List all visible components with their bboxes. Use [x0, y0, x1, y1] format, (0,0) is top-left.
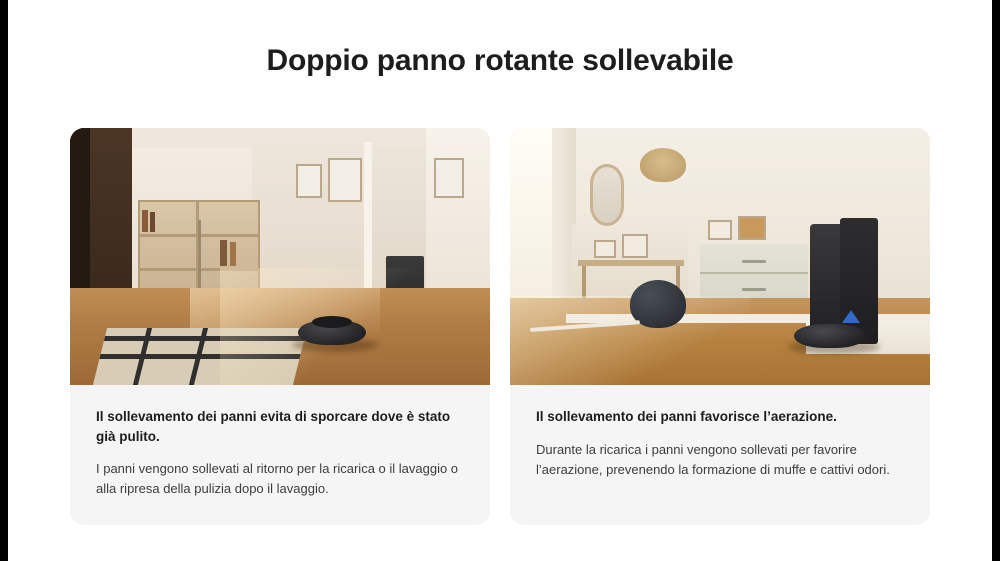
feature-body-2: Durante la ricarica i panni vengono soll…: [536, 440, 904, 480]
scene1-book-d: [230, 242, 236, 266]
scene1-picture-frame-c: [434, 158, 464, 198]
feature-image-2: [510, 128, 930, 385]
feature-heading-2: Il sollevamento dei panni favorisce l’ae…: [536, 407, 904, 427]
scene1-picture-frame-b: [328, 158, 362, 202]
scene2-dresser-handle-2: [742, 288, 766, 291]
letterbox-bar-right: [992, 0, 1000, 561]
scene2-desk-frame-a: [594, 240, 616, 258]
scene2-dresser-line-1: [700, 272, 808, 274]
scene2-desk-top: [578, 260, 684, 266]
scene1-book-c: [220, 240, 227, 266]
page-root: Doppio panno rotante sollevabile: [0, 0, 1000, 561]
feature-image-1: [70, 128, 490, 385]
feature-caption-1: Il sollevamento dei panni evita di sporc…: [70, 385, 490, 525]
letterbox-bar-left: [0, 0, 8, 561]
scene2-dresser-frame-a: [708, 220, 732, 240]
feature-card-2: Il sollevamento dei panni favorisce l’ae…: [510, 128, 930, 525]
feature-heading-1: Il sollevamento dei panni evita di sporc…: [96, 407, 464, 446]
scene2-direction-arrow-icon: [842, 310, 860, 323]
scene1-robot-lidar: [312, 316, 352, 328]
scene2-oval-mirror: [590, 164, 624, 226]
scene2-dresser-handle-1: [742, 260, 766, 263]
scene2-robot-vacuum: [794, 324, 866, 348]
feature-body-1: I panni vengono sollevati al ritorno per…: [96, 459, 464, 499]
card-list: Il sollevamento dei panni evita di sporc…: [70, 128, 930, 525]
scene1-book-b: [150, 212, 155, 232]
page-title: Doppio panno rotante sollevabile: [0, 44, 1000, 78]
scene2-rattan-pendant: [640, 148, 686, 182]
scene2-dresser-frame-b: [738, 216, 766, 240]
scene1-book-a: [142, 210, 148, 232]
scene2-desk-frame-b: [622, 234, 648, 258]
feature-caption-2: Il sollevamento dei panni favorisce l’ae…: [510, 385, 930, 506]
feature-card-1: Il sollevamento dei panni evita di sporc…: [70, 128, 490, 525]
scene1-picture-frame-a: [296, 164, 322, 198]
